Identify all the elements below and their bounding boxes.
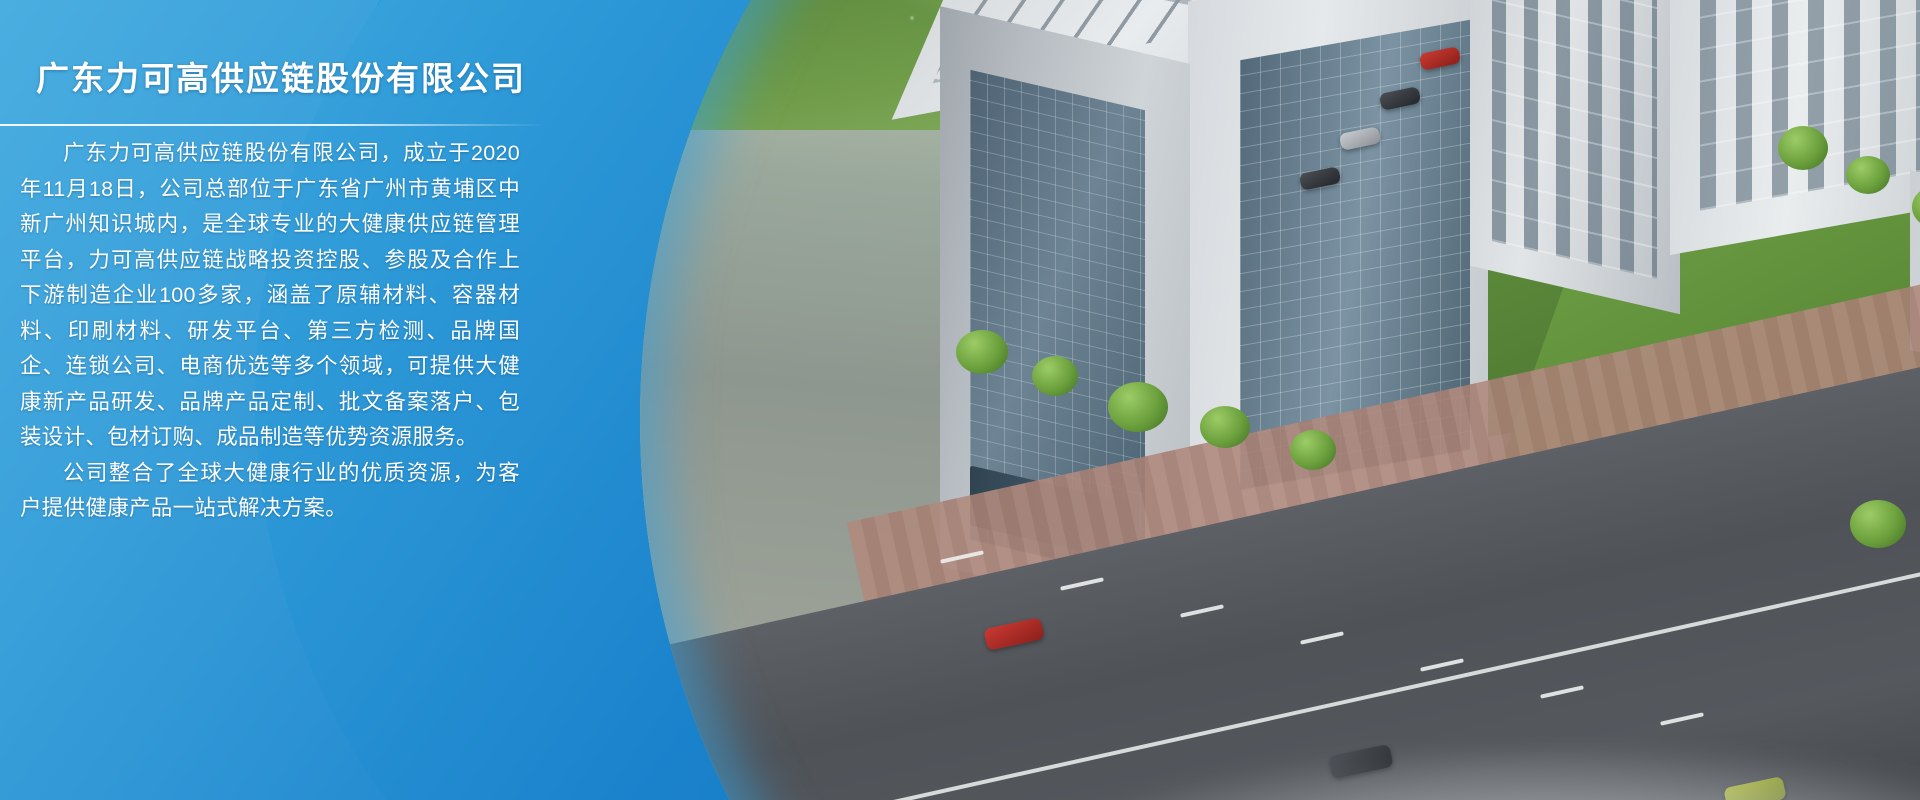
description-paragraph-2: 公司整合了全球大健康行业的优质资源，为客户提供健康产品一站式解决方案。 bbox=[20, 456, 520, 527]
description-paragraph-1: 广东力可高供应链股份有限公司，成立于2020年11月18日，公司总部位于广东省广… bbox=[20, 136, 520, 456]
company-description: 广东力可高供应链股份有限公司，成立于2020年11月18日，公司总部位于广东省广… bbox=[20, 136, 520, 527]
text-column: 广东力可高供应链股份有限公司 广东力可高供应链股份有限公司，成立于2020年11… bbox=[0, 0, 560, 800]
title-divider bbox=[0, 124, 545, 126]
company-facility-photo bbox=[640, 0, 1920, 800]
company-profile-banner: 广东力可高供应链股份有限公司 广东力可高供应链股份有限公司，成立于2020年11… bbox=[0, 0, 1920, 800]
photo-edge-feather bbox=[640, 0, 1920, 800]
page-title: 广东力可高供应链股份有限公司 bbox=[36, 52, 526, 100]
